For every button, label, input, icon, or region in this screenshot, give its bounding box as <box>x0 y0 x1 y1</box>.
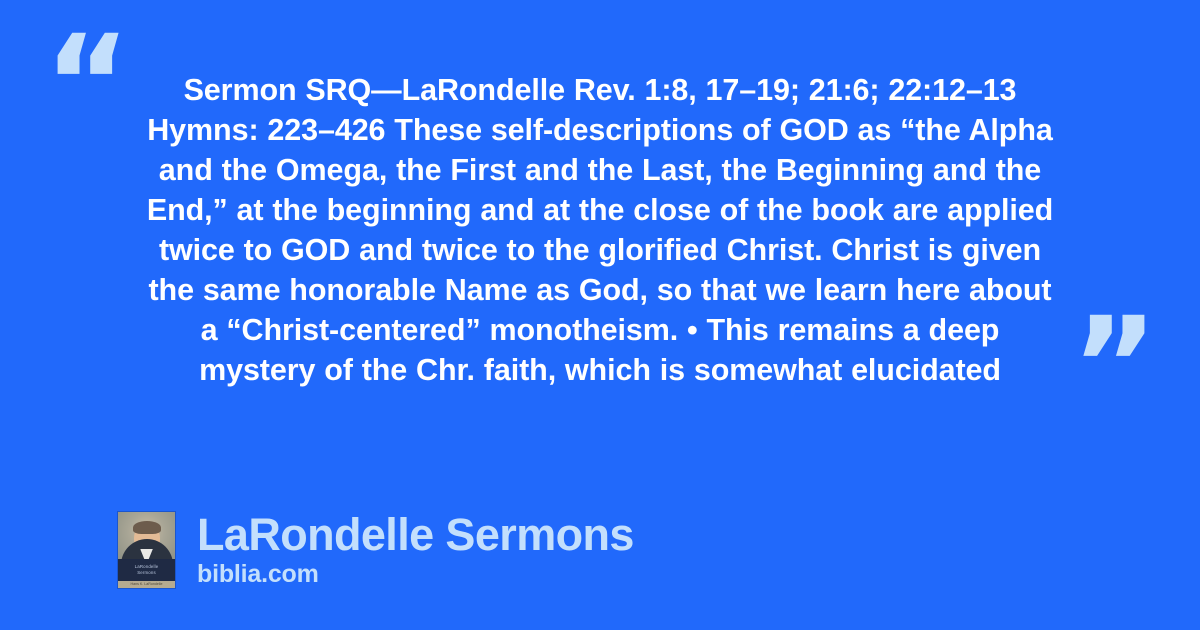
close-quote-icon: ” <box>1071 300 1158 432</box>
quote-share-card: “ Sermon SRQ—LaRondelle Rev. 1:8, 17–19;… <box>0 0 1200 630</box>
book-cover-thumbnail: LaRondelle Sermons Hans K. LaRondelle <box>118 512 175 588</box>
quote-line-6: the same honorable Name as God, so that … <box>100 270 1100 310</box>
quote-line-4: End,” at the beginning and at the close … <box>100 190 1100 230</box>
cover-title-line-2: Sermons <box>137 570 156 576</box>
portrait-hair <box>133 521 161 534</box>
brand-text-group: LaRondelle Sermons biblia.com <box>197 511 634 588</box>
quote-line-8: mystery of the Chr. faith, which is some… <box>100 350 1100 390</box>
quote-line-3: and the Omega, the First and the Last, t… <box>100 150 1100 190</box>
cover-author-strip: Hans K. LaRondelle <box>118 581 175 588</box>
cover-author-text: Hans K. LaRondelle <box>131 582 163 586</box>
quote-line-1: Sermon SRQ—LaRondelle Rev. 1:8, 17–19; 2… <box>100 70 1100 110</box>
quote-line-2: Hymns: 223–426 These self-descriptions o… <box>100 110 1100 150</box>
quote-line-7: a “Christ-centered” monotheism. • This r… <box>100 310 1100 350</box>
quote-line-5: twice to GOD and twice to the glorified … <box>100 230 1100 270</box>
quote-block: Sermon SRQ—LaRondelle Rev. 1:8, 17–19; 2… <box>100 70 1100 390</box>
brand-footer[interactable]: LaRondelle Sermons Hans K. LaRondelle La… <box>118 511 634 588</box>
brand-title: LaRondelle Sermons <box>197 511 634 558</box>
cover-title-band: LaRondelle Sermons <box>118 559 175 581</box>
brand-site-link[interactable]: biblia.com <box>197 561 634 588</box>
